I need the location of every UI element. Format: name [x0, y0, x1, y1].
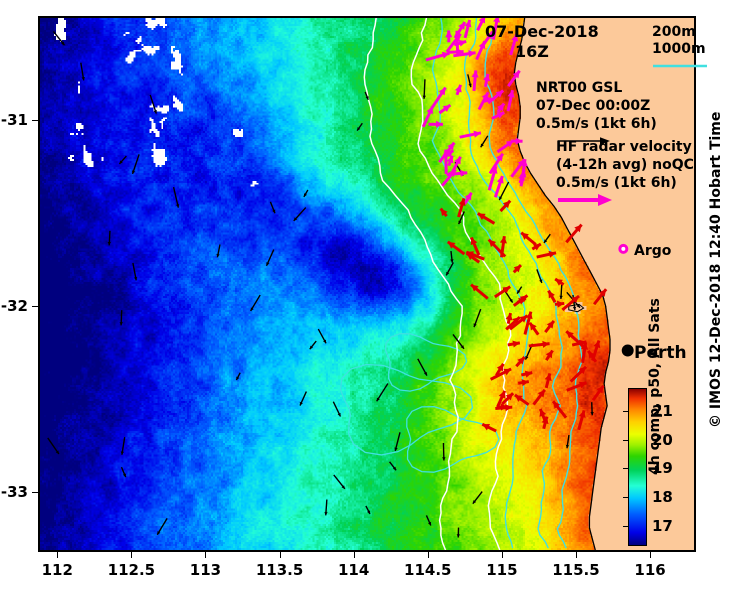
current-vector-head [423, 96, 426, 99]
point-markers [618, 244, 633, 357]
gsl-legend-line3: 0.5m/s (1kt 6h) [536, 116, 657, 134]
gsl-legend-line2: 07-Dec 00:00Z [536, 98, 657, 116]
scalebar-contour-swatch-icon [652, 62, 708, 70]
colorbar-title: 4h comp, p50, All Sats [647, 298, 663, 475]
bathymetry-scale-legend: 200m 1000m [652, 24, 708, 74]
colorbar-tick-label: 18 [652, 488, 673, 506]
argo-marker-label: Argo [634, 243, 671, 261]
colorbar-gradient [628, 388, 647, 546]
perth-marker-icon [622, 345, 634, 357]
x-tick-label: 113 [190, 561, 221, 579]
y-tick-mark [32, 120, 38, 121]
x-tick-label: 114 [338, 561, 369, 579]
sst-map-figure: 07-Dec-2018 16Z NRT00 GSL 07-Dec 00:00Z … [0, 0, 739, 592]
x-tick-label: 113.5 [256, 561, 303, 579]
scalebar-200m-label: 200m [652, 24, 708, 41]
current-vector-head [120, 322, 123, 325]
y-tick-label: -31 [0, 111, 28, 129]
date-time-title: 07-Dec-2018 16Z [485, 22, 599, 63]
x-tick-label: 115 [486, 561, 517, 579]
x-tick-mark [57, 552, 58, 558]
current-vector-head [445, 30, 452, 37]
current-vector-head [442, 457, 445, 460]
rottnest-island [569, 304, 584, 311]
current-vector-head [559, 296, 562, 299]
current-vector-head [516, 138, 523, 145]
x-tick-label: 112.5 [108, 561, 155, 579]
hf-legend-line3: 0.5m/s (1kt 6h) [556, 175, 694, 193]
x-tick-label: 114.5 [404, 561, 451, 579]
current-vector-head [108, 242, 111, 245]
depth-contour-200m [364, 18, 462, 550]
bathymetry-contour-loop [407, 407, 499, 473]
current-vector-head [457, 534, 460, 537]
current-vectors [48, 18, 606, 537]
x-tick-mark [650, 552, 651, 558]
y-tick-label: -33 [0, 483, 28, 501]
scalebar-1000m-label: 1000m [652, 41, 708, 58]
gsl-legend-line1: NRT00 GSL [536, 80, 657, 98]
colorbar-tick-mark [623, 440, 628, 441]
x-tick-mark [131, 552, 132, 558]
argo-marker-center [621, 247, 625, 251]
colorbar-tick-mark [623, 497, 628, 498]
hf-legend-line1: HF radar velocity [556, 139, 694, 157]
gsl-velocity-legend: NRT00 GSL 07-Dec 00:00Z 0.5m/s (1kt 6h) [536, 80, 657, 134]
sst-colorbar: 1718192021 [628, 388, 647, 546]
y-tick-label: -32 [0, 297, 28, 315]
colorbar-tick-mark [623, 526, 628, 527]
colorbar-tick-mark [623, 411, 628, 412]
x-tick-mark [502, 552, 503, 558]
hf-radar-velocity-legend: HF radar velocity (4-12h avg) noQC 0.5m/… [556, 139, 694, 193]
x-tick-mark [354, 552, 355, 558]
y-tick-mark [32, 306, 38, 307]
current-vector-head [324, 512, 327, 515]
hf-legend-line2: (4-12h avg) noQC [556, 157, 694, 175]
x-tick-label: 116 [634, 561, 665, 579]
copyright-notice: © IMOS 12-Dec-2018 12:40 Hobart Time [708, 112, 724, 428]
hf-sample-arrow-icon [556, 193, 616, 207]
colorbar-tick-mark [623, 468, 628, 469]
y-tick-mark [32, 492, 38, 493]
x-tick-mark [428, 552, 429, 558]
current-vector-head [472, 70, 479, 77]
title-time: 16Z [485, 42, 599, 62]
x-tick-mark [576, 552, 577, 558]
colorbar-tick-label: 17 [652, 517, 673, 535]
x-tick-mark [205, 552, 206, 558]
current-vector-head [460, 170, 467, 177]
x-tick-label: 112 [42, 561, 73, 579]
x-tick-mark [280, 552, 281, 558]
bathymetry-contour-loop [340, 364, 472, 454]
current-vector-head [590, 412, 593, 415]
x-tick-label: 115.5 [552, 561, 599, 579]
title-date: 07-Dec-2018 [485, 22, 599, 42]
bathymetry-contour-loop [386, 334, 467, 391]
current-vector-head [557, 301, 564, 308]
